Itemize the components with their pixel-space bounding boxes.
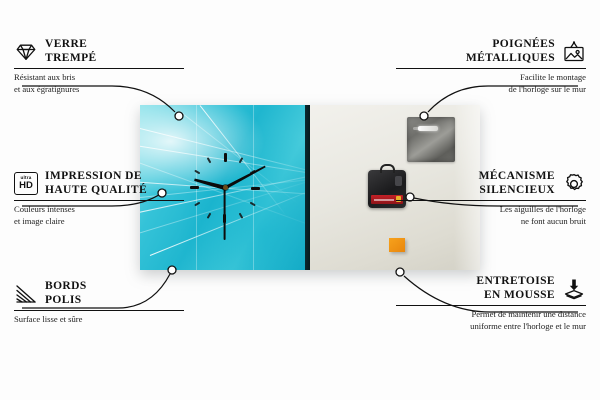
- callout-title-line2: MÉTALLIQUES: [466, 52, 555, 66]
- callout-verre-trempe[interactable]: VERRE TREMPÉ Résistant aux bris et aux é…: [14, 38, 204, 95]
- callout-sub-line1: Couleurs intenses: [14, 204, 204, 215]
- callout-title-line1: IMPRESSION DE: [45, 170, 147, 184]
- callout-sub-line2: de l'horloge sur le mur: [396, 84, 586, 95]
- clock-second-hand: [224, 188, 226, 240]
- infographic-canvas: VERRE TREMPÉ Résistant aux bris et aux é…: [0, 0, 600, 400]
- callout-rule: [396, 305, 586, 306]
- callout-rule: [396, 68, 586, 69]
- callout-title-line2: EN MOUSSE: [476, 289, 555, 303]
- callout-sub-line2: uniforme entre l'horloge et le mur: [396, 321, 586, 332]
- callout-title-line1: MÉCANISME: [479, 170, 555, 184]
- foam-spacer-icon: [562, 277, 586, 301]
- callout-title-line1: ENTRETOISE: [476, 275, 555, 289]
- callout-title-line2: SILENCIEUX: [479, 184, 555, 198]
- callout-sub-line1: Permet de maintenir une distance: [396, 309, 586, 320]
- picture-hanger-icon: [562, 40, 586, 64]
- callout-title-line2: HAUTE QUALITÉ: [45, 184, 147, 198]
- callout-sub-line1: Les aiguilles de l'horloge: [396, 204, 586, 215]
- callout-mecanisme-silencieux[interactable]: MÉCANISME SILENCIEUX Les aiguilles de l'…: [396, 170, 586, 227]
- callout-poignees-metalliques[interactable]: POIGNÉES MÉTALLIQUES Facilite le montage…: [396, 38, 586, 95]
- callout-bords-polis[interactable]: BORDS POLIS Surface lisse et sûre: [14, 280, 204, 326]
- callout-title-line2: POLIS: [45, 294, 87, 308]
- callout-title-line1: POIGNÉES: [466, 38, 555, 52]
- metal-hanger-bracket: [407, 117, 455, 162]
- callout-rule: [14, 200, 184, 201]
- callout-sub-line2: et image claire: [14, 216, 204, 227]
- ultra-hd-icon: ultra HD: [14, 172, 38, 196]
- callout-sub-line1: Résistant aux bris: [14, 72, 204, 83]
- hanger-hook-icon: [380, 164, 395, 173]
- callout-impression-haute-qualite[interactable]: ultra HD IMPRESSION DE HAUTE QUALITÉ Cou…: [14, 170, 204, 227]
- callout-title-line1: VERRE: [45, 38, 97, 52]
- callout-sub-line1: Facilite le montage: [396, 72, 586, 83]
- callout-sub-line2: et aux égratignures: [14, 84, 204, 95]
- ultra-hd-icon-main-text: HD: [19, 181, 33, 191]
- callout-sub-line2: ne font aucun bruit: [396, 216, 586, 227]
- clock-center-cap: [223, 185, 228, 190]
- diamond-icon: [14, 40, 38, 64]
- polished-edge-icon: [14, 282, 38, 306]
- callout-sub-line1: Surface lisse et sûre: [14, 314, 204, 325]
- callout-rule: [14, 310, 184, 311]
- callout-title-line2: TREMPÉ: [45, 52, 97, 66]
- callout-entretoise-en-mousse[interactable]: ENTRETOISE EN MOUSSE Permet de maintenir…: [396, 275, 586, 332]
- callout-title-line1: BORDS: [45, 280, 87, 294]
- foam-spacer-pad: [389, 238, 405, 252]
- callout-rule: [396, 200, 586, 201]
- callout-rule: [14, 68, 184, 69]
- gear-icon: [562, 172, 586, 196]
